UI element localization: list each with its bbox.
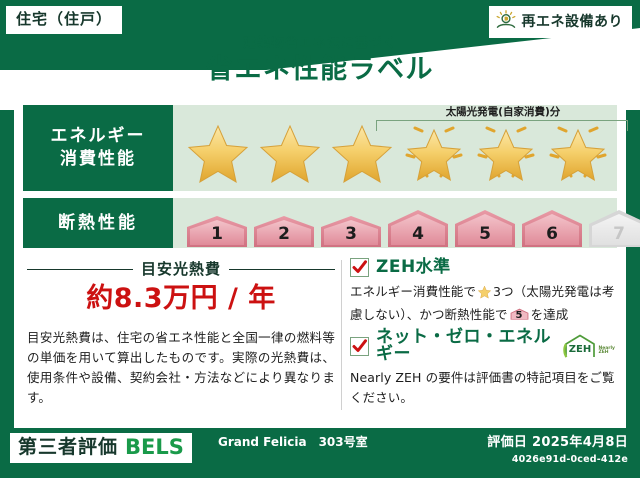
energy-performance-row: エネルギー 消費性能 太陽光発電(自家消費)分 — [23, 105, 617, 191]
zeh-standard-checkbox — [350, 258, 369, 277]
net-zero-text: Nearly ZEH の要件は評価書の特記項目をご覧ください。 — [350, 368, 615, 408]
insulation-grade-4: 4 — [386, 208, 450, 248]
insulation-performance-row: 断熱性能 — [23, 198, 617, 248]
check-icon — [352, 260, 367, 275]
net-zero-title: ネット・ゼロ・エネルギー — [376, 329, 552, 363]
label-title: 建築物省エネ法に基づく 省エネ性能ラベル — [0, 36, 640, 86]
star-5-solar — [471, 118, 541, 184]
evaluation-id: 4026e91d-0ced-412e — [487, 454, 628, 465]
insulation-performance-body: 1 2 3 — [173, 198, 640, 248]
cost-heading-label: 目安光熱費 — [141, 262, 221, 277]
main-card: エネルギー 消費性能 太陽光発電(自家消費)分 — [14, 98, 626, 428]
utility-cost-description: 目安光熱費は、住宅の省エネ性能と全国一律の燃料等の単価を用いて算出したものです。… — [27, 328, 335, 409]
energy-performance-label: エネルギー 消費性能 — [23, 105, 173, 191]
star-6-solar — [543, 118, 613, 184]
energy-performance-body: 太陽光発電(自家消費)分 — [173, 105, 617, 191]
utility-cost-value: 約8.3万円 / 年 — [27, 284, 335, 314]
dwelling-type-tag: 住宅（住戸） — [6, 6, 122, 34]
insulation-grade-2-number: 2 — [252, 226, 316, 243]
energy-performance-label: 住宅（住戸） 再エネ設備あり 建築物省エネ法に基づく 省エネ性能ラベル — [0, 0, 640, 478]
solar-generation-note: 太陽光発電(自家消費)分 — [373, 107, 633, 118]
building-name: Grand Felicia 303号室 — [218, 435, 438, 450]
insulation-grade-3: 3 — [319, 214, 383, 248]
insulation-grade-3-number: 3 — [319, 226, 383, 243]
insulation-grade-7-number: 7 — [587, 226, 640, 243]
cost-heading-rule-right — [229, 269, 335, 271]
insulation-grade-7: 7 — [587, 208, 640, 248]
sun-icon — [495, 10, 517, 34]
star-4-solar — [399, 118, 469, 184]
title-main: 省エネ性能ラベル — [0, 53, 640, 87]
zeh-house-logo-icon: ZEH Nearly ZEH — [563, 333, 615, 359]
insulation-grade-6: 6 — [520, 208, 584, 248]
insulation-grade-scale: 1 2 3 — [173, 198, 640, 248]
net-zero-heading: ネット・ゼロ・エネルギー ZEH Nearly — [350, 329, 615, 363]
svg-text:ZEH: ZEH — [569, 344, 591, 355]
star-1 — [183, 118, 253, 184]
zeh-logo-subtext: Nearly ZEH — [598, 347, 615, 359]
energy-label-line1: エネルギー — [51, 126, 146, 146]
inline-star-icon — [477, 284, 492, 305]
label-footer: 第三者評価 BELS Grand Felicia 303号室 評価日 2025年… — [0, 430, 640, 478]
evaluation-info: 評価日 2025年4月8日 4026e91d-0ced-412e — [487, 435, 628, 465]
utility-cost-heading: 目安光熱費 — [27, 262, 335, 277]
insulation-grade-1-number: 1 — [185, 226, 249, 243]
insulation-grade-5-number: 5 — [453, 226, 517, 243]
insulation-grade-1: 1 — [185, 214, 249, 248]
insulation-grade-6-number: 6 — [520, 226, 584, 243]
star-rating — [173, 118, 613, 184]
insulation-grade-4-number: 4 — [386, 226, 450, 243]
bels-label: BELS — [125, 437, 184, 458]
evaluation-date: 評価日 2025年4月8日 — [487, 435, 628, 451]
renewable-badge-label: 再エネ設備あり — [522, 15, 624, 29]
zeh-text-part1: エネルギー消費性能で — [350, 284, 476, 299]
net-zero-energy-block: ネット・ゼロ・エネルギー ZEH Nearly — [350, 329, 615, 408]
zeh-standard-title: ZEH水準 — [376, 259, 451, 276]
renewable-equipment-badge: 再エネ設備あり — [489, 6, 633, 38]
zeh-standard-text: エネルギー消費性能で3つ（太陽光発電は考慮しない）、かつ断熱性能で5を達成 — [350, 282, 615, 325]
inline-grade-badge-icon: 5 — [510, 306, 529, 322]
energy-label-line2: 消費性能 — [60, 149, 136, 169]
check-icon — [352, 339, 367, 354]
bels-certification-mark: 第三者評価 BELS — [10, 433, 192, 463]
utility-cost-column: 目安光熱費 約8.3万円 / 年 目安光熱費は、住宅の省エネ性能と全国一律の燃料… — [23, 256, 341, 416]
zeh-standard-block: ZEH水準 エネルギー消費性能で3つ（太陽光発電は考慮しない）、かつ断熱性能で5… — [350, 258, 615, 325]
insulation-grade-5: 5 — [453, 208, 517, 248]
star-2 — [255, 118, 325, 184]
column-divider — [341, 260, 342, 410]
zeh-column: ZEH水準 エネルギー消費性能で3つ（太陽光発電は考慮しない）、かつ断熱性能で5… — [348, 256, 617, 416]
cost-heading-rule-left — [27, 269, 133, 271]
net-zero-checkbox — [350, 337, 369, 356]
zeh-standard-heading: ZEH水準 — [350, 258, 615, 277]
lower-section: 目安光熱費 約8.3万円 / 年 目安光熱費は、住宅の省エネ性能と全国一律の燃料… — [23, 256, 617, 416]
insulation-performance-label: 断熱性能 — [23, 198, 173, 248]
third-party-label: 第三者評価 — [18, 438, 118, 457]
zeh-text-part3: を達成 — [531, 307, 569, 322]
star-3 — [327, 118, 397, 184]
zeh-logo-sub-line2: ZEH — [598, 350, 608, 355]
title-subtitle: 建築物省エネ法に基づく — [0, 36, 640, 52]
inline-grade-badge-number: 5 — [510, 311, 529, 321]
insulation-grade-2: 2 — [252, 214, 316, 248]
